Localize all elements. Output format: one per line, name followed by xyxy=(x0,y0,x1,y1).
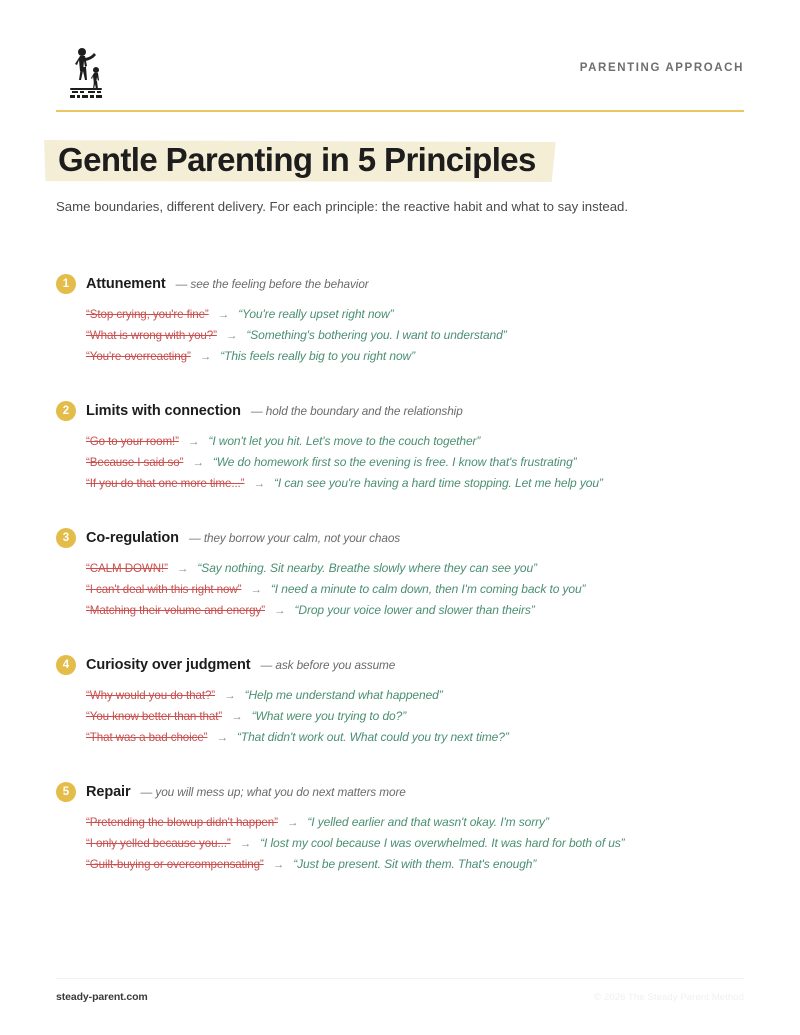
principle-rows: “Why would you do that?” → “Help me unde… xyxy=(56,688,744,744)
principle-item: 2 Limits with connection — hold the boun… xyxy=(56,401,744,490)
principle-name: Repair xyxy=(86,784,131,800)
principle-header: 5 Repair — you will mess up; what you do… xyxy=(56,782,744,802)
principle-name: Co-regulation xyxy=(86,530,179,546)
header-rule xyxy=(56,110,744,112)
footer-website[interactable]: steady-parent.com xyxy=(56,991,148,1003)
swap-row: “Matching their volume and energy” → “Dr… xyxy=(86,603,744,617)
reactive-phrase: “Go to your room!” xyxy=(86,435,179,448)
replacement-phrase: “Say nothing. Sit nearby. Breathe slowly… xyxy=(197,561,537,575)
reactive-phrase: “I can't deal with this right now” xyxy=(86,583,241,596)
replacement-phrase: “I need a minute to calm down, then I'm … xyxy=(271,582,586,596)
replacement-phrase: “I lost my cool because I was overwhelme… xyxy=(260,836,625,850)
principle-rows: “CALM DOWN!” → “Say nothing. Sit nearby.… xyxy=(56,561,744,617)
reactive-phrase: “Guilt-buying or overcompensating” xyxy=(86,858,264,871)
swap-row: “I can't deal with this right now” → “I … xyxy=(86,582,744,596)
parent-and-child-silhouette-icon xyxy=(56,44,118,100)
arrow-icon: → xyxy=(226,330,238,342)
arrow-icon: → xyxy=(216,732,228,744)
principle-item: 4 Curiosity over judgment — ask before y… xyxy=(56,655,744,744)
arrow-icon: → xyxy=(287,817,299,829)
principle-rows: “Go to your room!” → “I won't let you hi… xyxy=(56,434,744,490)
swap-row: “You're overreacting” → “This feels real… xyxy=(86,349,744,363)
swap-row: “That was a bad choice” → “That didn't w… xyxy=(86,730,744,744)
swap-row: “If you do that one more time...” → “I c… xyxy=(86,476,744,490)
arrow-icon: → xyxy=(200,351,212,363)
reactive-phrase: “That was a bad choice” xyxy=(86,731,207,744)
principle-tagline: — ask before you assume xyxy=(260,658,395,672)
principle-item: 1 Attunement — see the feeling before th… xyxy=(56,274,744,363)
arrow-icon: → xyxy=(188,436,200,448)
reactive-phrase: “What is wrong with you?” xyxy=(86,329,217,342)
reactive-phrase: “If you do that one more time...” xyxy=(86,477,244,490)
principle-item: 3 Co-regulation — they borrow your calm,… xyxy=(56,528,744,617)
principle-number-badge: 4 xyxy=(56,655,76,675)
arrow-icon: → xyxy=(273,859,285,871)
arrow-icon: → xyxy=(231,711,243,723)
swap-row: “Why would you do that?” → “Help me unde… xyxy=(86,688,744,702)
swap-row: “Go to your room!” → “I won't let you hi… xyxy=(86,434,744,448)
reactive-phrase: “CALM DOWN!” xyxy=(86,562,168,575)
principle-header: 4 Curiosity over judgment — ask before y… xyxy=(56,655,744,675)
reactive-phrase: “Pretending the blowup didn't happen” xyxy=(86,816,278,829)
principle-tagline: — you will mess up; what you do next mat… xyxy=(141,785,406,799)
swap-row: “Guilt-buying or overcompensating” → “Ju… xyxy=(86,857,744,871)
replacement-phrase: “Something's bothering you. I want to un… xyxy=(246,328,506,342)
principle-number-badge: 2 xyxy=(56,401,76,421)
swap-row: “CALM DOWN!” → “Say nothing. Sit nearby.… xyxy=(86,561,744,575)
page-subtitle: Same boundaries, different delivery. For… xyxy=(56,198,744,216)
reactive-phrase: “You know better than that” xyxy=(86,710,222,723)
replacement-phrase: “We do homework first so the evening is … xyxy=(213,455,577,469)
principle-header: 2 Limits with connection — hold the boun… xyxy=(56,401,744,421)
principle-rows: “Stop crying, you're fine” → “You're rea… xyxy=(56,307,744,363)
principles-list: 1 Attunement — see the feeling before th… xyxy=(56,274,744,871)
replacement-phrase: “Just be present. Sit with them. That's … xyxy=(293,857,536,871)
reactive-phrase: “Why would you do that?” xyxy=(86,689,215,702)
principle-tagline: — hold the boundary and the relationship xyxy=(251,404,463,418)
reactive-phrase: “Matching their volume and energy” xyxy=(86,604,265,617)
principle-number-badge: 1 xyxy=(56,274,76,294)
principle-header: 3 Co-regulation — they borrow your calm,… xyxy=(56,528,744,548)
principle-number-badge: 5 xyxy=(56,782,76,802)
footer-row: steady-parent.com © 2026 The Steady Pare… xyxy=(56,991,744,1003)
page-title: Gentle Parenting in 5 Principles xyxy=(56,138,540,184)
replacement-phrase: “You're really upset right now” xyxy=(238,307,393,321)
principle-item: 5 Repair — you will mess up; what you do… xyxy=(56,782,744,871)
principle-header: 1 Attunement — see the feeling before th… xyxy=(56,274,744,294)
arrow-icon: → xyxy=(250,584,262,596)
arrow-icon: → xyxy=(177,563,189,575)
page-footer: steady-parent.com © 2026 The Steady Pare… xyxy=(56,978,744,1003)
footer-divider xyxy=(56,978,744,979)
replacement-phrase: “I won't let you hit. Let's move to the … xyxy=(208,434,480,448)
reactive-phrase: “I only yelled because you...” xyxy=(86,837,231,850)
arrow-icon: → xyxy=(224,690,236,702)
swap-row: “I only yelled because you...” → “I lost… xyxy=(86,836,744,850)
principle-rows: “Pretending the blowup didn't happen” → … xyxy=(56,815,744,871)
header-kicker: PARENTING APPROACH xyxy=(580,44,744,74)
reactive-phrase: “Stop crying, you're fine” xyxy=(86,308,209,321)
replacement-phrase: “I can see you're having a hard time sto… xyxy=(274,476,603,490)
principle-name: Curiosity over judgment xyxy=(86,657,250,673)
page: PARENTING APPROACH Gentle Parenting in 5… xyxy=(0,0,800,1035)
arrow-icon: → xyxy=(274,605,286,617)
brand-logo xyxy=(56,44,118,100)
arrow-icon: → xyxy=(192,457,204,469)
principle-name: Limits with connection xyxy=(86,403,241,419)
replacement-phrase: “This feels really big to you right now” xyxy=(220,349,415,363)
swap-row: “Stop crying, you're fine” → “You're rea… xyxy=(86,307,744,321)
principle-tagline: — they borrow your calm, not your chaos xyxy=(189,531,400,545)
replacement-phrase: “What were you trying to do?” xyxy=(252,709,407,723)
footer-copyright: © 2026 The Steady Parent Method xyxy=(594,992,744,1003)
reactive-phrase: “Because I said so” xyxy=(86,456,183,469)
replacement-phrase: “I yelled earlier and that wasn't okay. … xyxy=(307,815,548,829)
reactive-phrase: “You're overreacting” xyxy=(86,350,191,363)
swap-row: “Pretending the blowup didn't happen” → … xyxy=(86,815,744,829)
arrow-icon: → xyxy=(253,478,265,490)
principle-name: Attunement xyxy=(86,276,166,292)
principle-number-badge: 3 xyxy=(56,528,76,548)
principle-tagline: — see the feeling before the behavior xyxy=(176,277,369,291)
replacement-phrase: “That didn't work out. What could you tr… xyxy=(237,730,509,744)
page-header: PARENTING APPROACH xyxy=(56,0,744,106)
swap-row: “You know better than that” → “What were… xyxy=(86,709,744,723)
swap-row: “Because I said so” → “We do homework fi… xyxy=(86,455,744,469)
arrow-icon: → xyxy=(218,309,230,321)
replacement-phrase: “Drop your voice lower and slower than t… xyxy=(294,603,534,617)
page-title-wrap: Gentle Parenting in 5 Principles xyxy=(56,138,540,184)
swap-row: “What is wrong with you?” → “Something's… xyxy=(86,328,744,342)
replacement-phrase: “Help me understand what happened” xyxy=(245,688,443,702)
arrow-icon: → xyxy=(240,838,252,850)
